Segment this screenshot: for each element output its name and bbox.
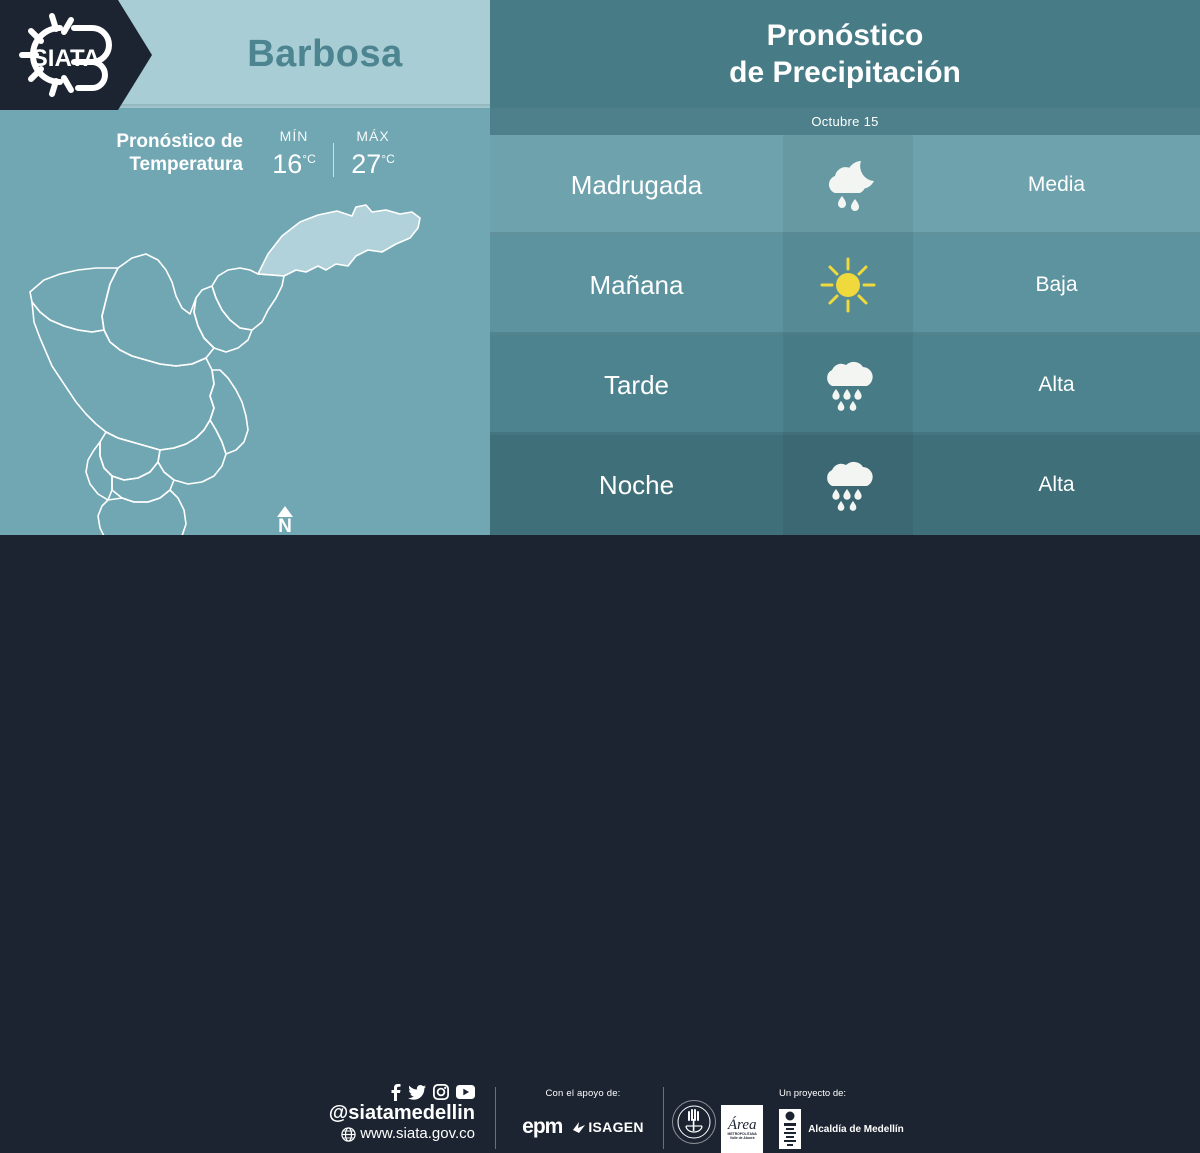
map-region-copacabana — [194, 286, 252, 352]
forecast-title-line2: de Precipitación — [729, 54, 961, 91]
forecast-probability-label: Alta — [1038, 473, 1074, 497]
left-panel: SIATA Barbosa Pronóstico de Temperatura … — [0, 0, 490, 535]
project-block: Un proyecto de: Área METROPOLITANA Valle… — [705, 1088, 920, 1153]
forecast-probability-cell: Media — [913, 135, 1200, 235]
temperature-min: MÍN 16°C — [255, 128, 333, 179]
forecast-period-cell: Noche — [490, 435, 783, 535]
forecast-period-cell: Mañana — [490, 235, 783, 335]
support-caption: Con el apoyo de: — [508, 1088, 658, 1099]
min-unit: °C — [302, 152, 315, 166]
temperature-max-value: 27°C — [334, 144, 412, 179]
amva-sub2: Valle de Aburrá — [730, 1136, 755, 1140]
forecast-probability-label: Baja — [1035, 273, 1077, 297]
forecast-probability-label: Alta — [1038, 373, 1074, 397]
forecast-icon-cell — [783, 335, 913, 435]
forecast-date: Octubre 15 — [811, 114, 878, 129]
map-region-barbosa — [258, 205, 420, 276]
north-arrow: N — [277, 506, 293, 535]
map-region-la-estrella — [86, 442, 112, 500]
sun-icon — [819, 256, 877, 314]
siata-logo-text: SIATA — [32, 45, 100, 72]
isagen-text: ISAGEN — [588, 1119, 643, 1135]
temperature-min-label: MÍN — [255, 128, 333, 144]
max-number: 27 — [351, 149, 381, 179]
cloud-heavy-rain-icon — [818, 356, 878, 414]
map-region-nw — [30, 268, 118, 332]
weather-forecast-card: SIATA Barbosa Pronóstico de Temperatura … — [0, 0, 1200, 630]
support-block: Con el apoyo de: epm ISAGEN — [508, 1088, 658, 1139]
forecast-icon-cell — [783, 435, 913, 535]
footer: @siatamedellin www.siata.gov.co Con el a… — [0, 535, 1200, 630]
social-handle[interactable]: @siatamedellin — [300, 1102, 475, 1125]
alcaldia-crest-icon — [777, 1107, 803, 1151]
project-logos: Área METROPOLITANA Valle de Aburrá — [705, 1105, 920, 1153]
map-region-caldas — [98, 490, 186, 535]
forecast-row[interactable]: Noche Alta — [490, 435, 1200, 535]
municipality-map[interactable]: N — [0, 180, 490, 535]
page-title: Barbosa — [160, 0, 490, 108]
footer-divider — [663, 1087, 664, 1149]
temperature-max-label: MÁX — [334, 128, 412, 144]
isagen-logo[interactable]: ISAGEN — [572, 1119, 643, 1135]
alcaldia-logo[interactable]: Alcaldía de Medellín — [777, 1107, 904, 1151]
facebook-icon[interactable] — [390, 1084, 401, 1101]
max-unit: °C — [381, 152, 394, 166]
epm-logo[interactable]: epm — [522, 1115, 562, 1139]
forecast-period-cell: Tarde — [490, 335, 783, 435]
map-region-girardota — [212, 268, 284, 330]
moon-cloud-rain-icon — [817, 158, 879, 212]
forecast-row[interactable]: Tarde Alta — [490, 335, 1200, 435]
project-caption: Un proyecto de: — [705, 1088, 920, 1099]
forecast-icon-cell — [783, 235, 913, 335]
temperature-title: Pronóstico de Temperatura — [55, 130, 255, 176]
sun-cloud-icon: SIATA — [8, 8, 128, 102]
temperature-min-value: 16°C — [255, 144, 333, 179]
right-panel: Pronóstico de Precipitación Octubre 15 M… — [490, 0, 1200, 535]
twitter-icon[interactable] — [408, 1085, 426, 1100]
map-region-medellin — [32, 302, 214, 450]
amva-name: Área — [728, 1118, 757, 1132]
forecast-date-bar: Octubre 15 — [490, 108, 1200, 135]
forecast-title: Pronóstico de Precipitación — [729, 17, 961, 91]
forecast-probability-label: Media — [1028, 173, 1085, 197]
forecast-period-label: Mañana — [590, 270, 684, 301]
area-metropolitana-logo[interactable]: Área METROPOLITANA Valle de Aburrá — [721, 1105, 763, 1153]
globe-icon — [341, 1127, 356, 1142]
forecast-rows: Madrugada Media Mañana — [490, 135, 1200, 535]
temperature-max: MÁX 27°C — [334, 128, 412, 179]
temperature-title-line2: Temperatura — [55, 153, 243, 176]
map-region-east-ridge — [210, 370, 248, 454]
min-number: 16 — [272, 149, 302, 179]
website-line[interactable]: www.siata.gov.co — [300, 1125, 475, 1143]
forecast-period-label: Noche — [599, 470, 674, 501]
forecast-probability-cell: Alta — [913, 435, 1200, 535]
isagen-mark-icon — [572, 1121, 586, 1134]
forecast-header: Pronóstico de Precipitación — [490, 0, 1200, 108]
footer-divider — [495, 1087, 496, 1149]
forecast-title-line1: Pronóstico — [729, 17, 961, 54]
north-arrow-label: N — [277, 518, 293, 535]
instagram-icon[interactable] — [433, 1084, 449, 1100]
forecast-row[interactable]: Madrugada Media — [490, 135, 1200, 235]
youtube-icon[interactable] — [456, 1085, 475, 1099]
alcaldia-text: Alcaldía de Medellín — [808, 1124, 904, 1135]
forecast-row[interactable]: Mañana — [490, 235, 1200, 335]
social-block: @siatamedellin www.siata.gov.co — [300, 1083, 475, 1143]
map-region-sabaneta — [112, 462, 174, 502]
temperature-block: Pronóstico de Temperatura MÍN 16°C MÁX 2… — [55, 122, 455, 184]
forecast-icon-cell — [783, 135, 913, 235]
forecast-probability-cell: Alta — [913, 335, 1200, 435]
temperature-title-line1: Pronóstico de — [55, 130, 243, 153]
support-logos: epm ISAGEN — [508, 1115, 658, 1139]
forecast-period-cell: Madrugada — [490, 135, 783, 235]
website-url: www.siata.gov.co — [360, 1125, 475, 1143]
valle-de-aburra-map-svg — [0, 180, 490, 535]
forecast-period-label: Tarde — [604, 370, 669, 401]
cloud-heavy-rain-icon — [818, 456, 878, 514]
forecast-period-label: Madrugada — [571, 170, 703, 201]
social-icons — [300, 1083, 475, 1101]
forecast-probability-cell: Baja — [913, 235, 1200, 335]
